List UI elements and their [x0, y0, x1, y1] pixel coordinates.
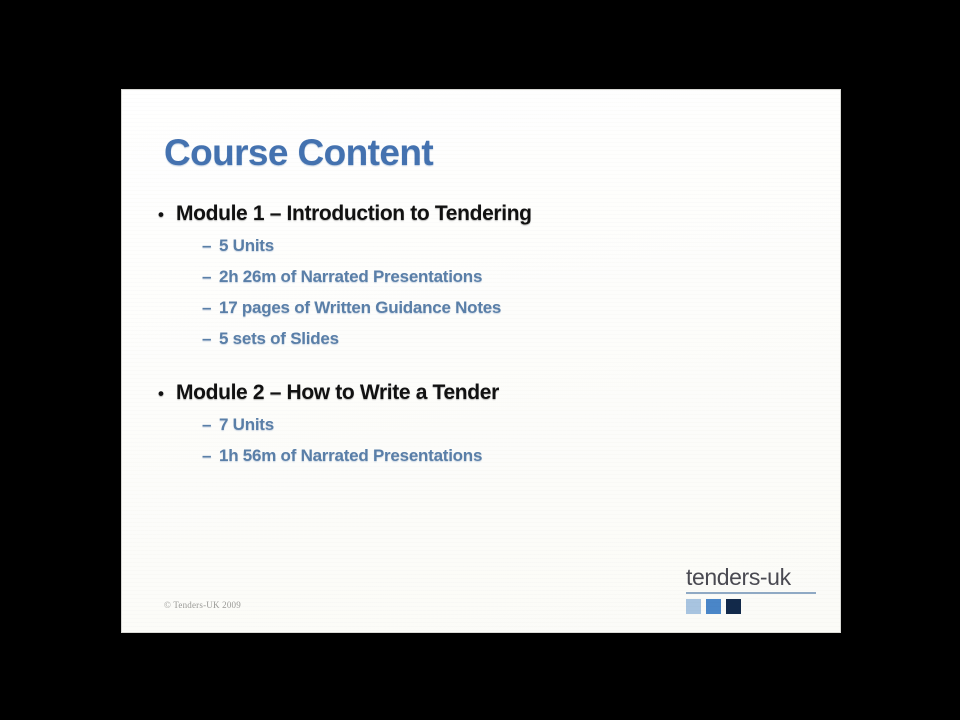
list-item: – 1h 56m of Narrated Presentations: [158, 441, 816, 472]
list-item-label: 2h 26m of Narrated Presentations: [219, 262, 482, 293]
presentation-slide: Course Content • Module 1 – Introduction…: [122, 90, 840, 632]
brand-logo: tenders-uk: [686, 566, 816, 614]
list-item: – 5 Units: [158, 231, 816, 262]
brand-square-medium-icon: [706, 599, 721, 614]
list-item: – 2h 26m of Narrated Presentations: [158, 262, 816, 293]
dash-icon: –: [202, 231, 219, 262]
bullet-icon: •: [158, 385, 176, 402]
module-heading-label: Module 1 – Introduction to Tendering: [176, 202, 532, 226]
slide-body: • Module 1 – Introduction to Tendering –…: [158, 202, 816, 472]
brand-square-dark-icon: [726, 599, 741, 614]
list-item-label: 5 sets of Slides: [219, 324, 339, 355]
module-sub-list: – 7 Units – 1h 56m of Narrated Presentat…: [158, 410, 816, 472]
module-heading: • Module 2 – How to Write a Tender: [158, 381, 816, 405]
module-heading-label: Module 2 – How to Write a Tender: [176, 381, 499, 405]
brand-squares: [686, 599, 816, 614]
list-item: – 5 sets of Slides: [158, 324, 816, 355]
brand-wordmark: tenders-uk: [686, 566, 816, 594]
dash-icon: –: [202, 293, 219, 324]
list-item: – 7 Units: [158, 410, 816, 441]
bullet-icon: •: [158, 206, 176, 223]
dash-icon: –: [202, 262, 219, 293]
module-heading: • Module 1 – Introduction to Tendering: [158, 202, 816, 226]
slide-title: Course Content: [164, 132, 433, 174]
list-item-label: 1h 56m of Narrated Presentations: [219, 441, 482, 472]
module-group: • Module 1 – Introduction to Tendering –…: [158, 202, 816, 355]
list-item: – 17 pages of Written Guidance Notes: [158, 293, 816, 324]
dash-icon: –: [202, 410, 219, 441]
brand-square-light-icon: [686, 599, 701, 614]
module-group: • Module 2 – How to Write a Tender – 7 U…: [158, 381, 816, 472]
video-stage: Course Content • Module 1 – Introduction…: [0, 0, 960, 720]
module-sub-list: – 5 Units – 2h 26m of Narrated Presentat…: [158, 231, 816, 355]
copyright-notice: © Tenders-UK 2009: [164, 600, 241, 610]
list-item-label: 17 pages of Written Guidance Notes: [219, 293, 501, 324]
dash-icon: –: [202, 324, 219, 355]
dash-icon: –: [202, 441, 219, 472]
list-item-label: 7 Units: [219, 410, 274, 441]
list-item-label: 5 Units: [219, 231, 274, 262]
